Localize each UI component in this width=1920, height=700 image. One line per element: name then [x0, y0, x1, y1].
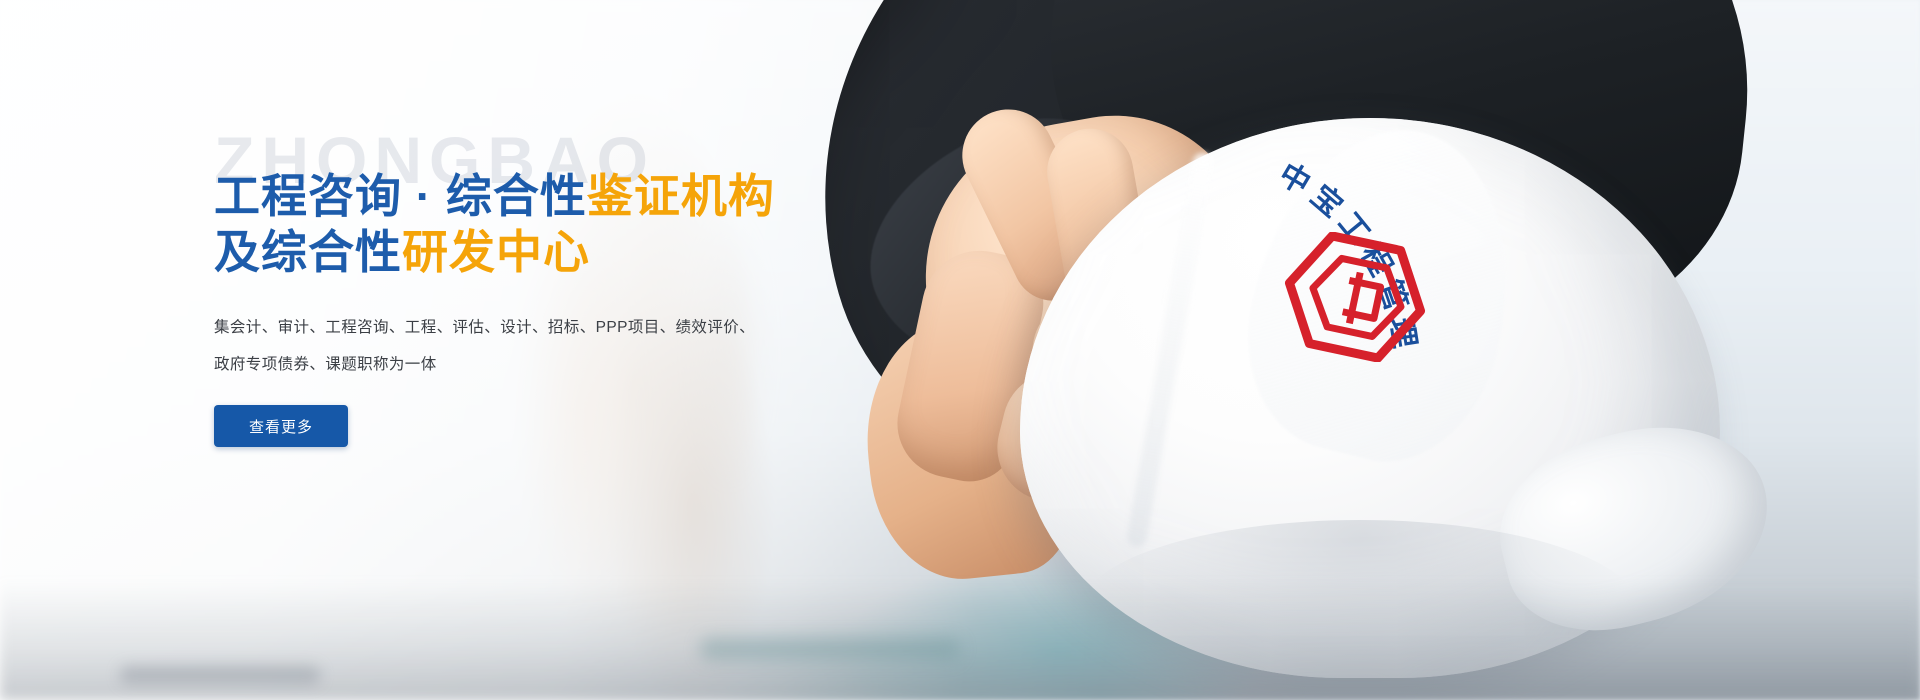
ground-beam-2: [700, 638, 960, 660]
view-more-button[interactable]: 查看更多: [214, 405, 348, 447]
headline-line-1-blue: 工程咨询 · 综合性: [214, 170, 587, 222]
hexagon-monogram-icon: [1280, 232, 1430, 362]
ground-beam-1: [120, 666, 320, 684]
headline-line-1: 工程咨询 · 综合性鉴证机构: [214, 168, 954, 224]
subtitle-line-2: 政府专项债券、课题职称为一体: [214, 347, 954, 383]
headline-line-2: 及综合性研发中心: [214, 224, 954, 280]
hero-subtitle: 集会计、审计、工程咨询、工程、评估、设计、招标、PPP项目、绩效评价、 政府专项…: [214, 310, 954, 383]
headline-line-2-blue: 及综合性: [214, 226, 402, 278]
headline-line-1-orange: 鉴证机构: [587, 170, 775, 222]
subtitle-line-1: 集会计、审计、工程咨询、工程、评估、设计、招标、PPP项目、绩效评价、: [214, 310, 954, 346]
hero-headline: 工程咨询 · 综合性鉴证机构 及综合性研发中心: [214, 168, 954, 280]
hero-banner: 中宝工程管理 ZHONGBAO 工程咨询 · 综合性鉴证机构 及综合性研发中心: [0, 0, 1920, 700]
hero-copy-block: 工程咨询 · 综合性鉴证机构 及综合性研发中心 集会计、审计、工程咨询、工程、评…: [214, 168, 954, 447]
headline-line-2-orange: 研发中心: [402, 226, 590, 278]
